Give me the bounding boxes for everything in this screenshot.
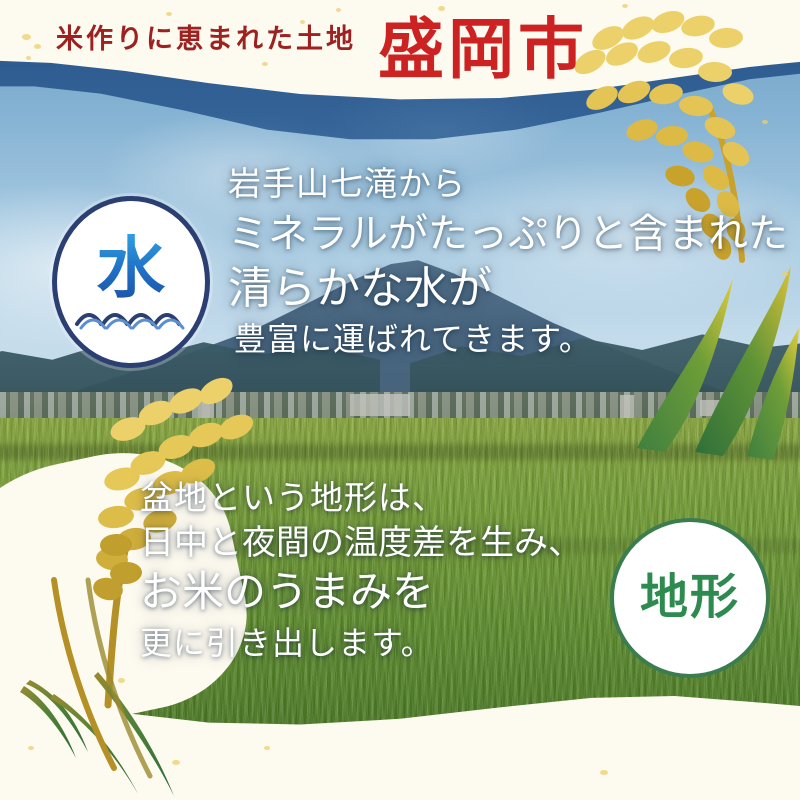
water-line-4: 豊富に運ばれてきます。 — [234, 318, 788, 360]
grain-fleck — [438, 6, 445, 11]
terrain-badge-glyph: 地形 — [640, 574, 740, 622]
water-badge[interactable]: 水 — [52, 196, 210, 368]
terrain-line-3: お米のうまみを — [140, 566, 582, 621]
grain-fleck — [264, 746, 270, 750]
terrain-line-1: 盆地という地形は、 — [140, 478, 582, 522]
grain-fleck — [28, 746, 34, 750]
grain-fleck — [118, 678, 125, 683]
grain-fleck — [336, 8, 341, 12]
water-line-1: 岩手山七滝から — [228, 164, 788, 208]
water-description: 岩手山七滝から ミネラルがたっぷりと含まれた 清らかな水が 豊富に運ばれてきます… — [228, 164, 788, 361]
grain-fleck — [166, 12, 172, 16]
grain-fleck — [34, 44, 41, 49]
wave-icon — [73, 304, 189, 334]
poster-root: 米作りに恵まれた土地 盛岡市 水 地形 岩手山七滝から ミネラルがたっぷりと含ま… — [0, 0, 800, 800]
header-subtitle: 米作りに恵まれた土地 — [56, 26, 356, 53]
water-line-3: 清らかな水が — [228, 260, 788, 318]
terrain-line-4: 更に引き出します。 — [140, 622, 582, 664]
grain-fleck — [622, 4, 628, 8]
grain-fleck — [172, 760, 180, 765]
grain-fleck — [22, 34, 31, 40]
grain-fleck — [762, 120, 768, 124]
terrain-description: 盆地という地形は、 日中と夜間の温度差を生み、 お米のうまみを 更に引き出します… — [140, 478, 582, 664]
grain-fleck — [600, 770, 608, 775]
water-badge-glyph: 水 — [97, 234, 165, 302]
grain-fleck — [262, 62, 268, 66]
water-line-2: ミネラルがたっぷりと含まれた — [228, 208, 788, 261]
header-title: 盛岡市 — [378, 16, 588, 85]
terrain-line-2: 日中と夜間の温度差を生み、 — [140, 522, 582, 567]
grain-fleck — [26, 56, 31, 60]
terrain-badge[interactable]: 地形 — [610, 518, 770, 678]
